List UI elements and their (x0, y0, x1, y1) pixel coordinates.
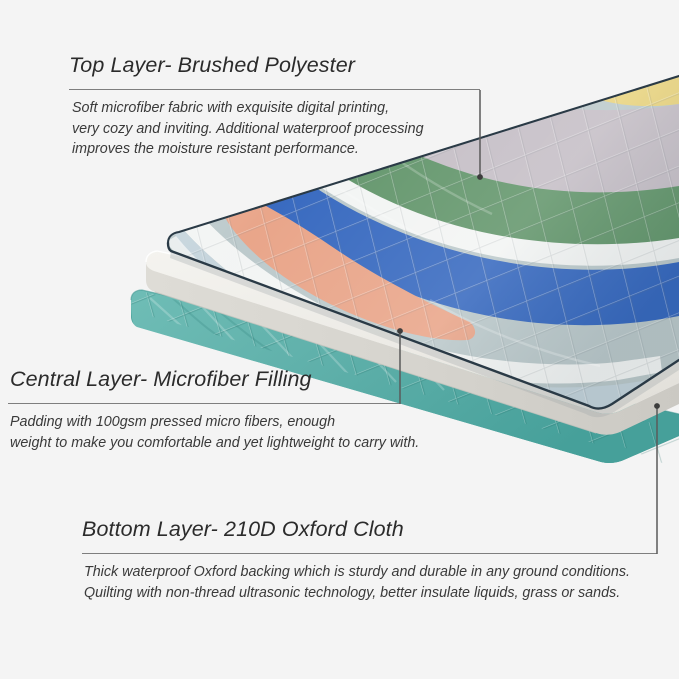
central-layer-body: Padding with 100gsm pressed micro fibers… (8, 412, 419, 453)
top-layer-heading: Top Layer- Brushed Polyester (69, 52, 480, 78)
bottom-layer-heading: Bottom Layer- 210D Oxford Cloth (82, 516, 657, 542)
bottom-layer-body: Thick waterproof Oxford backing which is… (82, 562, 657, 603)
top-layer-body-line-1: Soft microfiber fabric with exquisite di… (72, 98, 480, 119)
section-central-layer: Central Layer- Microfiber Filling Paddin… (8, 366, 419, 453)
central-layer-rule (8, 403, 400, 404)
central-layer-heading: Central Layer- Microfiber Filling (10, 366, 419, 392)
infographic-canvas: Top Layer- Brushed Polyester Soft microf… (0, 0, 679, 679)
bottom-layer-body-line-2: Quilting with non-thread ultrasonic tech… (84, 583, 657, 604)
section-top-layer: Top Layer- Brushed Polyester Soft microf… (69, 52, 480, 160)
top-layer-body-line-2: very cozy and inviting. Additional water… (72, 119, 480, 140)
top-layer-rule (69, 89, 480, 90)
central-layer-body-line-2: weight to make you comfortable and yet l… (10, 433, 419, 454)
bottom-layer-rule (82, 553, 657, 554)
bottom-layer-body-line-1: Thick waterproof Oxford backing which is… (84, 562, 657, 583)
top-layer-body: Soft microfiber fabric with exquisite di… (69, 98, 480, 160)
central-layer-body-line-1: Padding with 100gsm pressed micro fibers… (10, 412, 419, 433)
section-bottom-layer: Bottom Layer- 210D Oxford Cloth Thick wa… (82, 516, 657, 603)
top-layer-body-line-3: improves the moisture resistant performa… (72, 139, 480, 160)
